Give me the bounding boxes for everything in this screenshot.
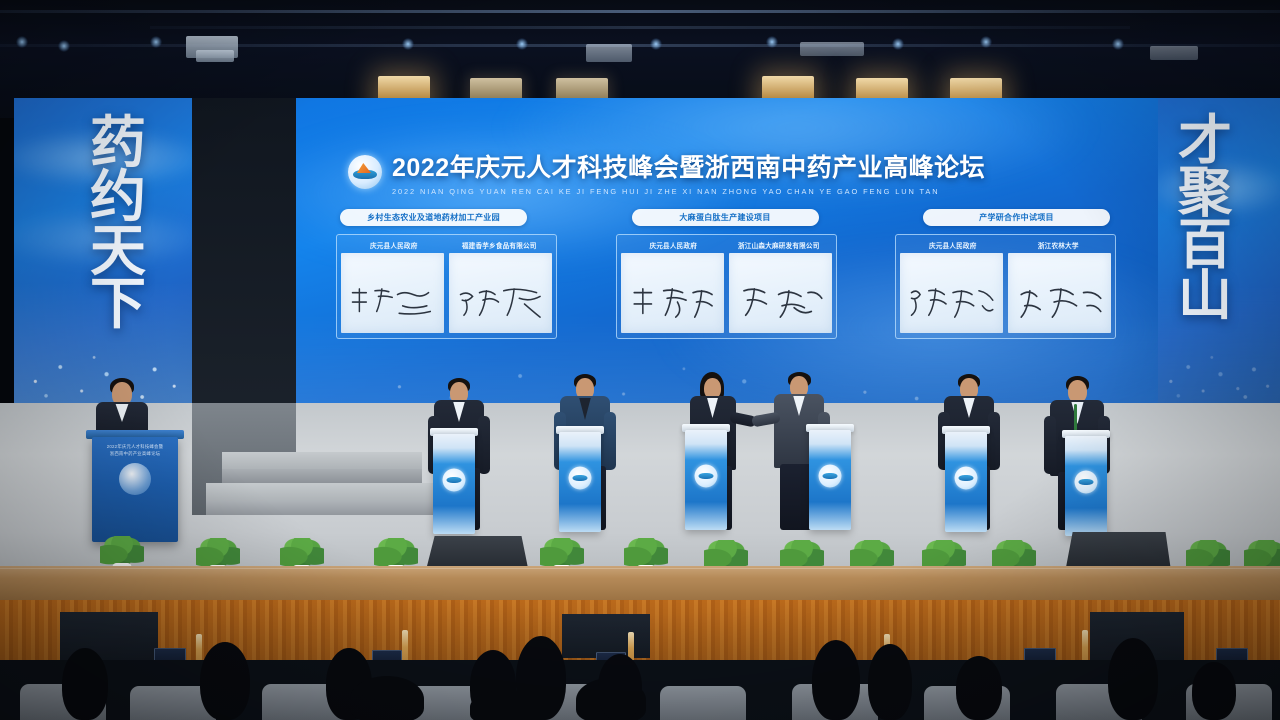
right-led-banner: 才 聚 百 山 <box>1156 98 1280 403</box>
handwritten-signature <box>349 287 436 319</box>
podium-title-line1: 2022年庆元人才科技峰会暨 <box>92 444 178 451</box>
stage-light-glow <box>16 36 28 48</box>
person-arm <box>988 412 1000 470</box>
person-arm <box>604 412 616 470</box>
signature-card <box>621 253 724 333</box>
banner-char: 山 <box>1178 271 1232 323</box>
apron-edge-line <box>0 568 1280 569</box>
audience-head <box>516 636 566 720</box>
handwritten-signature <box>629 287 716 319</box>
stage-step-face <box>222 469 422 483</box>
audience-seat <box>660 686 746 720</box>
stage-light-glow <box>892 38 904 50</box>
stage-step <box>206 483 438 501</box>
signature-card <box>900 253 1003 333</box>
handwritten-signature <box>1016 287 1103 319</box>
stage-light-glow <box>980 36 992 48</box>
stage-light-glow <box>650 38 662 50</box>
person-arm <box>478 416 490 474</box>
project-pill: 产学研合作中试项目 <box>923 209 1110 226</box>
ceiling-panel <box>196 50 234 62</box>
handwritten-signature <box>457 287 544 319</box>
signatory-name: 庆元县人民政府 <box>900 238 1006 253</box>
signing-group: 庆元县人民政府 福建香芋乡食品有限公司 <box>336 234 557 339</box>
project-pill: 乡村生态农业及道地药材加工产业园 <box>340 209 527 226</box>
banner-char: 聚 <box>1178 168 1232 220</box>
stage-front-apron <box>0 566 1280 600</box>
left-banner-text: 药 约 天 下 <box>90 116 146 331</box>
signature-card <box>729 253 832 333</box>
stage-light-glow <box>58 40 70 52</box>
signatory-name: 浙江农林大学 <box>1006 238 1112 253</box>
stage-light-glow <box>402 38 414 50</box>
signature-card <box>449 253 552 333</box>
main-led-screen: 2022年庆元人才科技峰会暨浙西南中药产业高峰论坛 2022 NIAN QING… <box>296 98 1158 403</box>
event-title-block: 2022年庆元人才科技峰会暨浙西南中药产业高峰论坛 2022 NIAN QING… <box>348 148 985 196</box>
project-pill: 大麻蛋白肽生产建设项目 <box>632 209 819 226</box>
conference-stage-photo: 药 约 天 下 才 聚 百 山 2022年庆元人才科技峰会暨浙西南中药产业高峰论… <box>0 0 1280 720</box>
person-arm <box>1044 416 1056 474</box>
audience-head <box>62 648 108 720</box>
signatory-name: 庆元县人民政府 <box>341 238 447 253</box>
audience-head <box>812 640 860 720</box>
signing-table <box>1065 436 1107 536</box>
signature-card <box>1008 253 1111 333</box>
banner-char: 药 <box>90 116 146 170</box>
banner-char: 才 <box>1178 116 1232 168</box>
ceiling-panel <box>1150 46 1198 60</box>
audience-head <box>598 654 642 720</box>
audience-head <box>1108 638 1158 720</box>
ceiling-panel <box>586 44 632 62</box>
right-banner-text: 才 聚 百 山 <box>1178 116 1232 323</box>
stage-step <box>222 452 422 469</box>
signatory-name: 浙江山森大麻研发有限公司 <box>726 238 832 253</box>
handwritten-signature <box>908 287 995 319</box>
ceiling-panel <box>800 42 864 56</box>
signing-table <box>685 430 727 530</box>
speaker-podium: 2022年庆元人才科技峰会暨 浙西南中药产业高峰论坛 <box>92 437 178 542</box>
signing-table <box>945 432 987 532</box>
signing-group: 庆元县人民政府 浙江农林大学 <box>895 234 1116 339</box>
stage-light-glow <box>516 38 528 50</box>
qingyuan-summit-emblem-icon <box>348 155 382 189</box>
banner-char: 约 <box>90 170 146 224</box>
banner-char: 天 <box>90 224 146 278</box>
left-led-banner: 药 约 天 下 <box>14 98 192 403</box>
signing-table <box>809 430 851 530</box>
signing-group-row: 庆元县人民政府 福建香芋乡食品有限公司 <box>336 234 1116 339</box>
signatory-name: 福建香芋乡食品有限公司 <box>447 238 553 253</box>
banner-char: 下 <box>90 277 146 331</box>
stage-light-glow <box>1112 38 1124 50</box>
signature-card <box>341 253 444 333</box>
project-pill-row: 乡村生态农业及道地药材加工产业园 大麻蛋白肽生产建设项目 产学研合作中试项目 <box>340 209 1110 226</box>
stage-wing-left <box>192 98 296 428</box>
event-title-pinyin: 2022 NIAN QING YUAN REN CAI KE JI FENG H… <box>392 187 985 196</box>
stage-light-glow <box>150 36 162 48</box>
audience-head <box>1192 662 1236 720</box>
stage-step-face <box>206 501 438 515</box>
lanyard <box>1074 404 1077 432</box>
event-title-cn: 2022年庆元人才科技峰会暨浙西南中药产业高峰论坛 <box>392 148 985 184</box>
signing-table <box>433 434 475 534</box>
truss-bar <box>150 26 1130 29</box>
stage-light-glow <box>766 36 778 48</box>
audience-head <box>350 676 424 720</box>
truss-bar <box>0 10 1280 13</box>
audience-head <box>868 644 912 720</box>
signatory-name: 庆元县人民政府 <box>621 238 727 253</box>
signing-group: 庆元县人民政府 浙江山森大麻研发有限公司 <box>616 234 837 339</box>
banner-char: 百 <box>1178 220 1232 272</box>
signing-table <box>559 432 601 532</box>
podium-title-line2: 浙西南中药产业高峰论坛 <box>92 451 178 458</box>
handwritten-signature <box>737 287 824 319</box>
audience-head <box>200 642 250 720</box>
audience-head <box>956 656 1002 720</box>
podium-emblem-icon <box>119 463 151 495</box>
